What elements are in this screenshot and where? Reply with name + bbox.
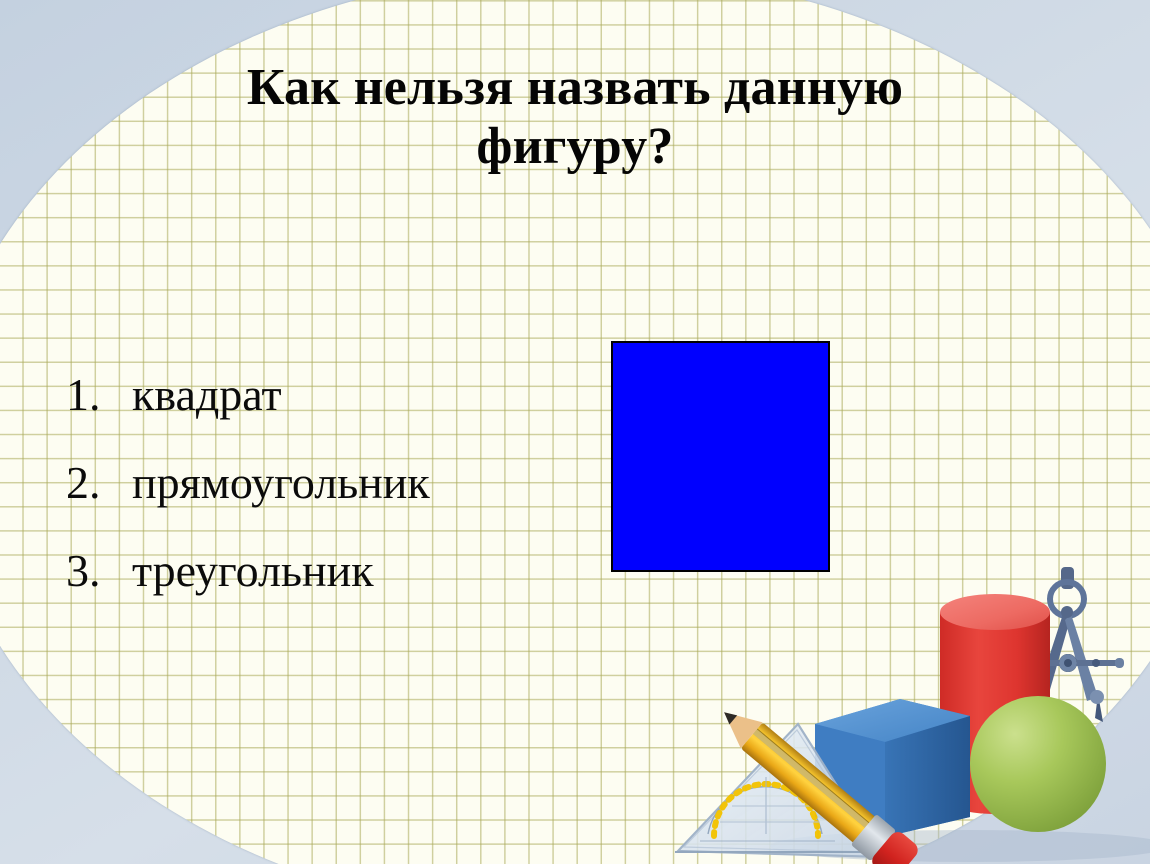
answer-number: 3.: [66, 544, 132, 597]
answer-list: 1. квадрат 2. прямоугольник 3. треугольн…: [66, 368, 430, 632]
answer-number: 1.: [66, 368, 132, 421]
geometry-illustration: [670, 564, 1150, 864]
list-item[interactable]: 2. прямоугольник: [66, 456, 430, 544]
answer-label: прямоугольник: [132, 456, 430, 509]
answer-label: квадрат: [132, 368, 282, 421]
answer-number: 2.: [66, 456, 132, 509]
slide-canvas: Как нельзя назвать данную фигуру? 1. ква…: [0, 0, 1150, 864]
list-item[interactable]: 1. квадрат: [66, 368, 430, 456]
list-item[interactable]: 3. треугольник: [66, 544, 430, 632]
green-sphere-icon: [970, 696, 1106, 832]
answer-label: треугольник: [132, 544, 374, 597]
page-title-line-2: фигуру?: [120, 117, 1030, 176]
page-title: Как нельзя назвать данную фигуру?: [120, 58, 1030, 177]
page-title-line-1: Как нельзя назвать данную: [120, 58, 1030, 117]
blue-square-figure: [611, 341, 830, 572]
